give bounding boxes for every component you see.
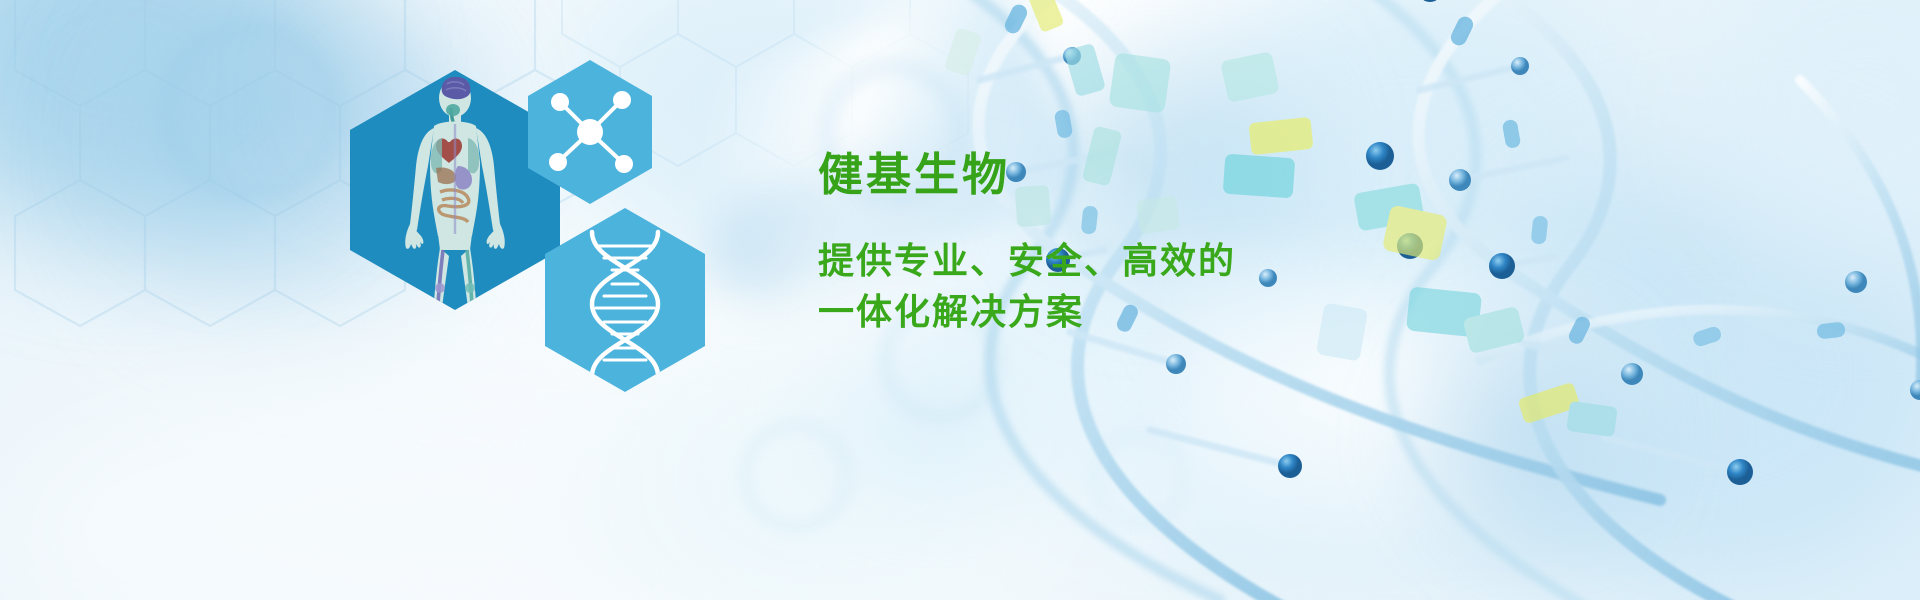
brand-title: 健基生物 [818, 148, 1378, 201]
tagline-line-2: 一体化解决方案 [818, 286, 1378, 337]
tagline-line-1: 提供专业、安全、高效的 [818, 235, 1378, 286]
hexagon-icon-cluster [330, 50, 790, 450]
banner-copy: 健基生物 提供专业、安全、高效的 一体化解决方案 [818, 148, 1378, 337]
hexagon-dna[interactable] [545, 208, 705, 392]
hero-banner: 健基生物 提供专业、安全、高效的 一体化解决方案 [0, 0, 1920, 600]
